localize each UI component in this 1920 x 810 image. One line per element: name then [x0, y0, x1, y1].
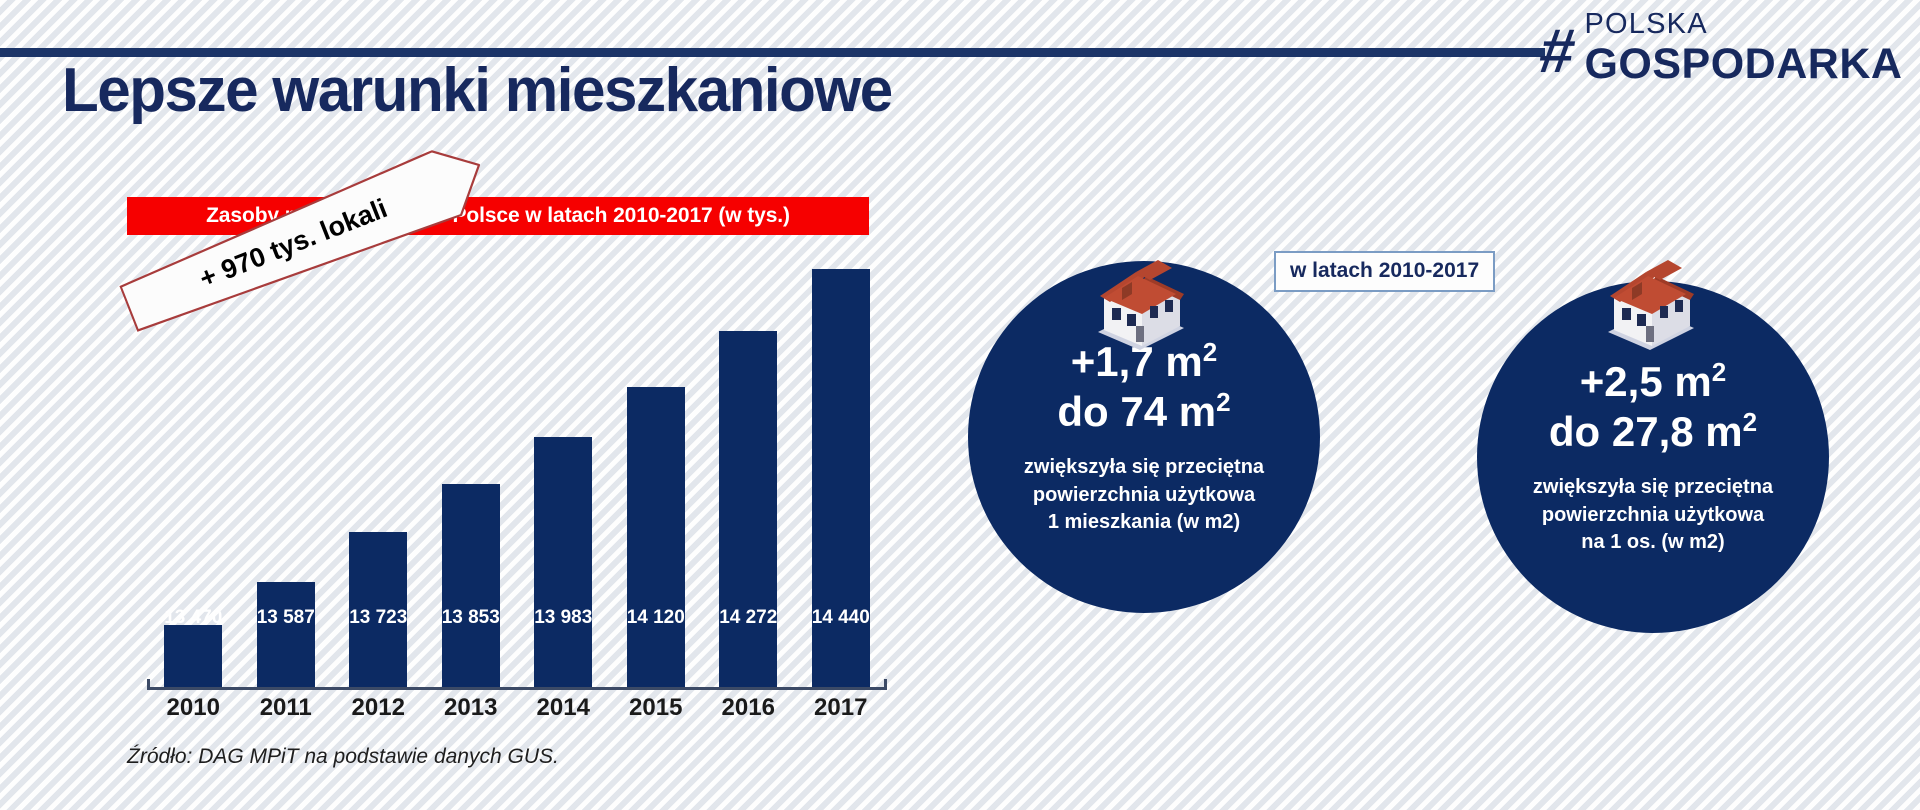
stat-description: zwiększyła się przeciętna powierzchnia u…	[1533, 474, 1773, 557]
bar-slot: 13 983	[517, 240, 610, 687]
bar-value-label: 13 470	[164, 607, 222, 629]
bar-series: 13 47013 58713 72313 85313 98314 12014 2…	[147, 240, 887, 687]
bar-value-label: 13 587	[257, 607, 315, 629]
infographic-page: Lepsze warunki mieszkaniowe # POLSKA GOS…	[0, 0, 1920, 810]
house-icon	[1080, 250, 1200, 360]
stat-description-line-2: powierzchnia użytkowa	[1533, 502, 1773, 530]
stat-description-line-1: zwiększyła się przeciętna	[1533, 474, 1773, 502]
x-axis-label: 2016	[702, 694, 795, 722]
stat-value-1-superscript: 2	[1712, 357, 1726, 387]
bar-value-label: 14 272	[719, 607, 777, 629]
stat-value-2-text: do 74 m	[1057, 388, 1216, 435]
x-axis-line	[147, 687, 887, 690]
stat-value-1-superscript: 2	[1203, 337, 1217, 367]
stat-value-1-text: +2,5 m	[1580, 358, 1712, 405]
x-axis-labels: 20102011201220132014201520162017	[147, 694, 887, 722]
bar-value-label: 13 853	[442, 607, 500, 629]
bar-value-label: 13 723	[349, 607, 407, 629]
bar: 13 983	[534, 437, 592, 687]
x-axis-tick-start	[147, 679, 150, 690]
bar: 14 440	[812, 269, 870, 687]
stat-description-line-2: powierzchnia użytkowa	[1024, 482, 1264, 510]
x-axis-tick-end	[884, 679, 887, 690]
stat-description-line-1: zwiększyła się przeciętna	[1024, 454, 1264, 482]
bar: 14 272	[719, 331, 777, 687]
bar: 14 120	[627, 387, 685, 687]
bar-value-label: 14 440	[812, 607, 870, 629]
logo-line-gospodarka: GOSPODARKA	[1584, 43, 1902, 86]
stat-value-2-superscript: 2	[1216, 387, 1230, 417]
bar-slot: 14 272	[702, 240, 795, 687]
bar-value-label: 13 983	[534, 607, 592, 629]
polska-gospodarka-logo: # POLSKA GOSPODARKA	[1540, 10, 1902, 86]
stat-value-line-2: do 27,8 m2	[1549, 407, 1757, 457]
bar: 13 587	[257, 582, 315, 687]
house-icon	[1590, 250, 1710, 360]
bar: 13 853	[442, 484, 500, 687]
stat-value-line-1: +2,5 m2	[1580, 357, 1726, 407]
bar-slot: 14 120	[610, 240, 703, 687]
x-axis-label: 2014	[517, 694, 610, 722]
bar-slot: 13 587	[240, 240, 333, 687]
stat-description-line-3: 1 mieszkania (w m2)	[1024, 509, 1264, 537]
stat-value-2-superscript: 2	[1743, 407, 1757, 437]
bar: 13 470	[164, 625, 222, 687]
stat-value-line-2: do 74 m2	[1057, 387, 1230, 437]
x-axis-label: 2017	[795, 694, 888, 722]
x-axis-label: 2012	[332, 694, 425, 722]
bar-chart: 13 47013 58713 72313 85313 98314 12014 2…	[127, 240, 887, 690]
page-title: Lepsze warunki mieszkaniowe	[62, 55, 892, 126]
stat-value-2-text: do 27,8 m	[1549, 408, 1743, 455]
period-label-text: w latach 2010-2017	[1290, 259, 1479, 282]
logo-wordmark: POLSKA GOSPODARKA	[1584, 10, 1902, 86]
x-axis-label: 2010	[147, 694, 240, 722]
x-axis-label: 2015	[610, 694, 703, 722]
bar-value-label: 14 120	[627, 607, 685, 629]
hash-icon: #	[1536, 21, 1579, 83]
x-axis-label: 2013	[425, 694, 518, 722]
bar-slot: 13 853	[425, 240, 518, 687]
period-label-box: w latach 2010-2017	[1274, 251, 1495, 292]
bar-slot: 14 440	[795, 240, 888, 687]
stat-description-line-3: na 1 os. (w m2)	[1533, 529, 1773, 557]
logo-line-polska: POLSKA	[1584, 10, 1902, 39]
chart-source-note: Źródło: DAG MPiT na podstawie danych GUS…	[127, 745, 559, 769]
x-axis-label: 2011	[240, 694, 333, 722]
bar-slot: 13 723	[332, 240, 425, 687]
stat-description: zwiększyła się przeciętna powierzchnia u…	[1024, 454, 1264, 537]
bar: 13 723	[349, 532, 407, 687]
